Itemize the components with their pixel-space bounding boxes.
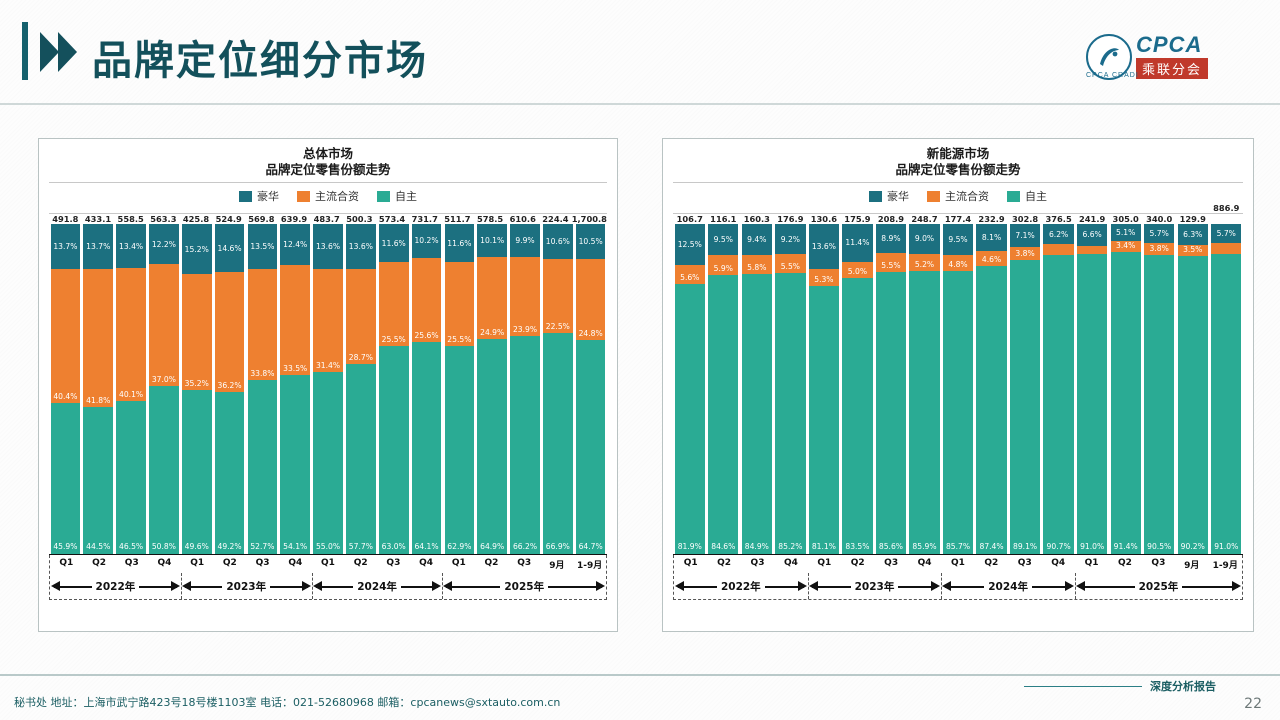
total-label: 511.7	[441, 214, 474, 224]
stacked-bar[interactable]: 15.2%35.2%49.6%	[182, 224, 212, 554]
bar-segment-lux: 13.5%	[248, 224, 278, 269]
bar-segment-label: 6.3%	[1183, 230, 1202, 239]
axis-year-group: 2022年	[674, 573, 808, 599]
axis-quarter-label: Q4	[410, 555, 443, 573]
footer-contact-text: 秘书处 地址：上海市武宁路423号18号楼1103室 电话：021-526809…	[14, 694, 560, 710]
stacked-bar[interactable]: 11.6%25.5%62.9%	[445, 224, 475, 554]
bar-segment-lux: 10.5%	[576, 224, 606, 259]
bar-segment-lux: 5.7%	[1144, 224, 1174, 243]
bar-segment-label: 25.5%	[447, 335, 471, 344]
header-accent-bar	[22, 22, 28, 80]
bar-segment-label: 22.5%	[546, 322, 570, 331]
bar-segment-label: 5.3%	[814, 275, 833, 284]
bar-segment-dom: 87.4%	[976, 266, 1006, 554]
bar-segment-label: 87.4%	[979, 542, 1003, 551]
bar-segment-lux: 9.5%	[708, 224, 738, 255]
bar-segment-lux: 13.7%	[51, 224, 81, 269]
axis-quarter-label: Q3	[1008, 555, 1041, 573]
bar-segment-lux: 9.0%	[909, 224, 939, 254]
bar-segment-dom: 57.7%	[346, 364, 376, 554]
legend-swatch-jv	[297, 191, 310, 202]
bar-segment-jv: 4.8%	[943, 255, 973, 271]
axis-quarter-label: Q2	[83, 555, 116, 573]
bar-segment-jv: 5.6%	[675, 265, 705, 283]
total-label: 224.4	[539, 214, 572, 224]
bar-segment-label: 40.1%	[119, 390, 143, 399]
total-label: 248.7	[908, 214, 942, 224]
bar-segment-label: 91.4%	[1114, 542, 1138, 551]
total-label: 129.9	[1176, 214, 1210, 224]
bar-segment-label: 3.8%	[1015, 249, 1034, 258]
bar-segment-jv: 33.5%	[280, 265, 310, 376]
bar-segment-jv: 5.2%	[909, 254, 939, 271]
bars-overall: 13.7%40.4%45.9%13.7%41.8%44.5%13.4%40.1%…	[49, 224, 607, 554]
bar-segment-label: 13.6%	[812, 242, 836, 251]
legend-label-dom: 自主	[395, 188, 417, 204]
bar-segment-label: 23.9%	[513, 325, 537, 334]
bar-segment-lux: 10.2%	[412, 224, 442, 258]
bar-segment-label: 4.6%	[982, 255, 1001, 264]
bar-segment-label: 10.6%	[546, 237, 570, 246]
total-label: 305.0	[1109, 214, 1143, 224]
bar-segment-jv: 25.5%	[379, 262, 409, 346]
chart-axis-overall: Q1Q2Q3Q4Q1Q2Q3Q4Q1Q2Q3Q4Q1Q2Q39月1-9月2022…	[49, 554, 607, 600]
legend-label-dom: 自主	[1025, 188, 1047, 204]
bars-nev: 12.5%5.6%81.9%9.5%5.9%84.6%9.4%5.8%84.9%…	[673, 224, 1243, 554]
stacked-bar[interactable]: 10.1%24.9%64.9%	[477, 224, 507, 554]
stacked-bar[interactable]: 6.2%3.1%90.7%	[1043, 224, 1073, 554]
bar-segment-dom: 64.9%	[477, 339, 507, 553]
axis-year-row: 2022年2023年2024年2025年	[674, 573, 1242, 599]
stacked-bar[interactable]: 5.1%3.4%91.4%	[1111, 224, 1141, 554]
bar-segment-label: 5.7%	[1217, 229, 1236, 238]
bar-segment-lux: 5.7%	[1211, 224, 1241, 243]
stacked-bar[interactable]: 8.1%4.6%87.4%	[976, 224, 1006, 554]
chart-panel-overall-market: 总体市场 品牌定位零售份额走势 豪华 主流合资 自主 491.8433.1558…	[38, 138, 618, 632]
bar-segment-jv: 24.8%	[576, 259, 606, 341]
total-label: 302.8	[1008, 214, 1042, 224]
chart-title-overall: 总体市场	[39, 139, 617, 161]
legend-label-lux: 豪华	[887, 188, 909, 204]
bar-segment-jv: 25.5%	[445, 262, 475, 346]
bar-segment-label: 11.6%	[382, 239, 406, 248]
stacked-bar[interactable]: 11.4%5.0%83.5%	[842, 224, 872, 554]
total-label: 569.8	[245, 214, 278, 224]
stacked-bar[interactable]: 10.6%22.5%66.9%	[543, 224, 573, 554]
chart-plot-nev: 106.7116.1160.3176.9130.6175.9208.9248.7…	[673, 214, 1243, 554]
bar-segment-jv: 35.2%	[182, 274, 212, 390]
total-label: 177.4	[941, 214, 975, 224]
stacked-bar[interactable]: 10.5%24.8%64.7%	[576, 224, 606, 554]
bar-segment-label: 13.7%	[53, 242, 77, 251]
bar-segment-label: 10.1%	[480, 236, 504, 245]
bar-segment-lux: 13.7%	[83, 224, 113, 269]
bar-segment-label: 41.8%	[86, 396, 110, 405]
bar-segment-dom: 90.2%	[1178, 256, 1208, 554]
bar-segment-jv: 3.5%	[1178, 245, 1208, 257]
bar-segment-jv: 36.2%	[215, 272, 245, 391]
totals-row-nev: 106.7116.1160.3176.9130.6175.9208.9248.7…	[673, 214, 1243, 224]
stacked-bar[interactable]: 9.9%23.9%66.2%	[510, 224, 540, 554]
axis-quarter-label: Q2	[841, 555, 874, 573]
legend-label-jv: 主流合资	[315, 188, 359, 204]
chart-legend-overall: 豪华 主流合资 自主	[39, 183, 617, 208]
bar-segment-label: 5.0%	[848, 267, 867, 276]
axis-quarter-label: Q3	[246, 555, 279, 573]
bar-segment-lux: 6.6%	[1077, 224, 1107, 246]
slide-header: 品牌定位细分市场 CPCA 乘联分会 CPCA CRADI	[0, 0, 1280, 104]
bar-segment-jv: 5.8%	[742, 255, 772, 274]
total-label: 176.9	[774, 214, 808, 224]
bar-segment-dom: 66.2%	[510, 336, 540, 554]
bar-segment-jv: 5.0%	[842, 262, 872, 279]
bar-segment-dom: 64.7%	[576, 340, 606, 554]
stacked-bar[interactable]: 9.5%5.9%84.6%	[708, 224, 738, 554]
bar-segment-lux: 9.9%	[510, 224, 540, 257]
header-divider	[0, 103, 1280, 105]
bar-segment-jv: 3.3%	[1211, 243, 1241, 254]
bar-segment-label: 52.7%	[250, 542, 274, 551]
bar-segment-label: 5.6%	[680, 273, 699, 282]
axis-quarter-row: Q1Q2Q3Q4Q1Q2Q3Q4Q1Q2Q3Q4Q1Q2Q39月1-9月	[674, 555, 1242, 573]
bar-segment-label: 9.4%	[747, 235, 766, 244]
bar-segment-label: 14.6%	[217, 244, 241, 253]
axis-quarter-row: Q1Q2Q3Q4Q1Q2Q3Q4Q1Q2Q3Q4Q1Q2Q39月1-9月	[50, 555, 606, 573]
total-label: 483.7	[310, 214, 343, 224]
bar-segment-label: 13.4%	[119, 242, 143, 251]
bar-segment-jv: 40.4%	[51, 269, 81, 402]
stacked-bar[interactable]: 8.9%5.5%85.6%	[876, 224, 906, 554]
bar-segment-lux: 13.6%	[346, 224, 376, 269]
bar-segment-lux: 14.6%	[215, 224, 245, 272]
bar-segment-label: 13.6%	[349, 242, 373, 251]
bar-segment-label: 84.9%	[745, 542, 769, 551]
bar-segment-label: 11.4%	[845, 238, 869, 247]
bar-segment-label: 4.8%	[948, 260, 967, 269]
bar-segment-dom: 52.7%	[248, 380, 278, 554]
stacked-bar[interactable]: 13.7%40.4%45.9%	[51, 224, 81, 554]
bar-segment-lux: 13.6%	[809, 224, 839, 269]
bar-segment-label: 3.8%	[1150, 244, 1169, 253]
bar-segment-jv: 33.8%	[248, 269, 278, 381]
bar-segment-lux: 11.4%	[842, 224, 872, 262]
bar-segment-jv: 23.9%	[510, 257, 540, 336]
axis-quarter-label: Q2	[707, 555, 740, 573]
legend-item-lux: 豪华	[869, 188, 909, 204]
axis-quarter-label: Q2	[975, 555, 1008, 573]
total-label: 886.9	[1210, 203, 1244, 213]
bar-segment-dom: 54.1%	[280, 375, 310, 554]
total-label: 116.1	[707, 214, 741, 224]
axis-holder: Q1Q2Q3Q4Q1Q2Q3Q4Q1Q2Q3Q4Q1Q2Q39月1-9月2022…	[49, 555, 607, 600]
stacked-bar[interactable]: 6.6%2.4%91.0%	[1077, 224, 1107, 554]
axis-quarter-label: Q2	[344, 555, 377, 573]
bar-segment-label: 25.5%	[382, 335, 406, 344]
bar-segment-label: 7.1%	[1015, 231, 1034, 240]
total-label: 106.7	[673, 214, 707, 224]
total-label: 425.8	[180, 214, 213, 224]
stacked-bar[interactable]: 13.5%33.8%52.7%	[248, 224, 278, 554]
bar-segment-dom: 62.9%	[445, 346, 475, 554]
stacked-bar[interactable]: 12.2%37.0%50.8%	[149, 224, 179, 554]
bar-segment-dom: 85.7%	[943, 271, 973, 554]
bar-segment-label: 85.9%	[912, 542, 936, 551]
legend-swatch-dom	[1007, 191, 1020, 202]
axis-year-label: 2025年	[1135, 579, 1183, 594]
bar-segment-jv: 31.4%	[313, 269, 343, 373]
stacked-bar[interactable]: 9.5%4.8%85.7%	[943, 224, 973, 554]
bar-segment-jv: 5.5%	[876, 253, 906, 271]
axis-quarter-label: 1-9月	[1209, 555, 1242, 573]
stacked-bar[interactable]: 11.6%25.5%63.0%	[379, 224, 409, 554]
bar-segment-label: 57.7%	[349, 542, 373, 551]
bar-segment-label: 5.8%	[747, 263, 766, 272]
bar-segment-label: 12.4%	[283, 240, 307, 249]
bar-segment-label: 40.4%	[53, 392, 77, 401]
bar-segment-lux: 12.2%	[149, 224, 179, 264]
bar-segment-label: 89.1%	[1013, 542, 1037, 551]
total-label: 563.3	[147, 214, 180, 224]
axis-quarter-label: Q1	[1075, 555, 1108, 573]
bar-segment-jv: 28.7%	[346, 269, 376, 364]
axis-year-group: 2024年	[312, 573, 443, 599]
bar-segment-label: 64.9%	[480, 542, 504, 551]
bar-segment-dom: 46.5%	[116, 401, 146, 554]
axis-quarter-label: Q4	[908, 555, 941, 573]
legend-swatch-dom	[377, 191, 390, 202]
bar-segment-jv: 40.1%	[116, 268, 146, 400]
bar-segment-label: 13.6%	[316, 242, 340, 251]
axis-quarter-label: Q3	[741, 555, 774, 573]
bar-segment-label: 85.6%	[879, 542, 903, 551]
bar-segment-dom: 85.2%	[775, 273, 805, 554]
bar-segment-label: 81.9%	[678, 542, 702, 551]
axis-quarter-label: Q4	[279, 555, 312, 573]
total-label: 433.1	[82, 214, 115, 224]
total-label: 340.0	[1142, 214, 1176, 224]
axis-year-group: 2023年	[808, 573, 942, 599]
bar-segment-lux: 10.6%	[543, 224, 573, 259]
chart-legend-nev: 豪华 主流合资 自主	[663, 183, 1253, 208]
logo-subtitle: 乘联分会	[1136, 58, 1208, 79]
chevron-right-icon	[40, 32, 100, 72]
bar-segment-lux: 15.2%	[182, 224, 212, 274]
bar-segment-jv: 3.4%	[1111, 241, 1141, 252]
total-label: 558.5	[114, 214, 147, 224]
page-number: 22	[1244, 696, 1262, 712]
stacked-bar[interactable]: 6.3%3.5%90.2%	[1178, 224, 1208, 554]
bar-segment-label: 84.6%	[711, 542, 735, 551]
bar-segment-label: 31.4%	[316, 361, 340, 370]
cpca-logo: CPCA 乘联分会 CPCA CRADI	[1086, 32, 1256, 80]
bar-segment-lux: 9.4%	[742, 224, 772, 255]
axis-quarter-label: Q4	[1041, 555, 1074, 573]
axis-year-row: 2022年2023年2024年2025年	[50, 573, 606, 599]
bar-segment-label: 15.2%	[185, 245, 209, 254]
total-label: 160.3	[740, 214, 774, 224]
bar-segment-dom: 66.9%	[543, 333, 573, 554]
axis-quarter-label: Q1	[50, 555, 83, 573]
bar-segment-label: 35.2%	[185, 379, 209, 388]
stacked-bar[interactable]: 5.7%3.3%91.0%	[1211, 224, 1241, 554]
legend-swatch-lux	[239, 191, 252, 202]
bar-segment-jv: 37.0%	[149, 264, 179, 386]
stacked-bar[interactable]: 7.1%3.8%89.1%	[1010, 224, 1040, 554]
axis-year-group: 2023年	[181, 573, 312, 599]
axis-quarter-label: Q3	[508, 555, 541, 573]
stacked-bar[interactable]: 13.4%40.1%46.5%	[116, 224, 146, 554]
bar-segment-label: 9.2%	[781, 235, 800, 244]
bar-segment-label: 5.5%	[781, 262, 800, 271]
bar-segment-label: 9.9%	[515, 236, 534, 245]
bar-segment-lux: 9.2%	[775, 224, 805, 254]
bar-segment-label: 24.9%	[480, 328, 504, 337]
bar-segment-lux: 12.4%	[280, 224, 310, 265]
bar-segment-jv: 24.9%	[477, 257, 507, 339]
bar-segment-label: 64.1%	[414, 542, 438, 551]
bar-segment-dom: 49.6%	[182, 390, 212, 554]
axis-quarter-label: 1-9月	[573, 555, 606, 573]
bar-segment-label: 62.9%	[447, 542, 471, 551]
bar-segment-lux: 7.1%	[1010, 224, 1040, 247]
bar-segment-label: 91.0%	[1214, 542, 1238, 551]
legend-label-lux: 豪华	[257, 188, 279, 204]
axis-quarter-label: Q3	[377, 555, 410, 573]
total-label: 376.5	[1042, 214, 1076, 224]
bar-segment-jv: 5.9%	[708, 255, 738, 274]
axis-year-label: 2024年	[353, 579, 401, 594]
bar-segment-dom: 90.5%	[1144, 255, 1174, 554]
totals-row-overall: 491.8433.1558.5563.3425.8524.9569.8639.9…	[49, 214, 607, 224]
bar-segment-label: 66.9%	[546, 542, 570, 551]
bar-segment-label: 9.5%	[948, 235, 967, 244]
total-label: 175.9	[841, 214, 875, 224]
stacked-bar[interactable]: 13.6%28.7%57.7%	[346, 224, 376, 554]
axis-quarter-label: Q4	[774, 555, 807, 573]
bar-segment-label: 8.9%	[881, 234, 900, 243]
slide-footer: 秘书处 地址：上海市武宁路423号18号楼1103室 电话：021-526809…	[0, 676, 1280, 720]
stacked-bar[interactable]: 12.5%5.6%81.9%	[675, 224, 705, 554]
axis-quarter-label: Q3	[874, 555, 907, 573]
bar-segment-dom: 84.9%	[742, 274, 772, 554]
bar-segment-label: 90.5%	[1147, 542, 1171, 551]
bar-segment-label: 12.5%	[678, 240, 702, 249]
bar-segment-label: 49.2%	[217, 542, 241, 551]
bar-segment-label: 55.0%	[316, 542, 340, 551]
logo-wordmark: CPCA	[1136, 32, 1202, 58]
bar-segment-lux: 11.6%	[445, 224, 475, 262]
total-label: 500.3	[343, 214, 376, 224]
stacked-bar[interactable]: 13.6%31.4%55.0%	[313, 224, 343, 554]
bar-segment-dom: 45.9%	[51, 403, 81, 554]
legend-swatch-jv	[927, 191, 940, 202]
footer-badge-label: 深度分析报告	[1150, 680, 1216, 693]
axis-quarter-label: Q2	[1108, 555, 1141, 573]
legend-item-jv: 主流合资	[297, 188, 359, 204]
bar-segment-label: 5.2%	[915, 260, 934, 269]
bar-segment-dom: 64.1%	[412, 342, 442, 554]
stacked-bar[interactable]: 10.2%25.6%64.1%	[412, 224, 442, 554]
total-label: 610.6	[506, 214, 539, 224]
bar-segment-lux: 12.5%	[675, 224, 705, 265]
bar-segment-label: 8.1%	[982, 233, 1001, 242]
axis-quarter-label: Q3	[1142, 555, 1175, 573]
stacked-bar[interactable]: 5.7%3.8%90.5%	[1144, 224, 1174, 554]
total-label: 731.7	[408, 214, 441, 224]
axis-year-label: 2024年	[984, 579, 1032, 594]
stacked-bar[interactable]: 12.4%33.5%54.1%	[280, 224, 310, 554]
axis-quarter-label: Q1	[941, 555, 974, 573]
legend-label-jv: 主流合资	[945, 188, 989, 204]
bar-segment-label: 63.0%	[382, 542, 406, 551]
bar-segment-dom: 81.9%	[675, 284, 705, 554]
bar-segment-lux: 8.9%	[876, 224, 906, 253]
total-label: 578.5	[474, 214, 507, 224]
bar-segment-label: 90.7%	[1047, 542, 1071, 551]
bar-segment-label: 10.5%	[579, 237, 603, 246]
stacked-bar[interactable]: 13.6%5.3%81.1%	[809, 224, 839, 554]
bar-segment-label: 6.2%	[1049, 230, 1068, 239]
axis-quarter-label: Q2	[214, 555, 247, 573]
bar-segment-label: 66.2%	[513, 542, 537, 551]
legend-item-dom: 自主	[377, 188, 417, 204]
total-label: 241.9	[1075, 214, 1109, 224]
bar-segment-label: 81.1%	[812, 542, 836, 551]
bar-segment-label: 46.5%	[119, 542, 143, 551]
bar-segment-jv: 25.6%	[412, 258, 442, 342]
bar-segment-dom: 91.4%	[1111, 252, 1141, 554]
axis-year-label: 2023年	[222, 579, 270, 594]
bar-segment-label: 13.5%	[250, 242, 274, 251]
axis-year-label: 2022年	[717, 579, 765, 594]
bar-segment-dom: 81.1%	[809, 286, 839, 554]
bar-segment-dom: 84.6%	[708, 275, 738, 554]
stacked-bar[interactable]: 9.0%5.2%85.9%	[909, 224, 939, 554]
axis-year-group: 2022年	[50, 573, 181, 599]
bar-segment-dom: 91.0%	[1211, 254, 1241, 554]
bar-segment-label: 44.5%	[86, 542, 110, 551]
bar-segment-jv: 4.6%	[976, 251, 1006, 266]
bar-segment-label: 64.7%	[579, 542, 603, 551]
bar-segment-label: 5.7%	[1150, 229, 1169, 238]
bar-segment-label: 12.2%	[152, 240, 176, 249]
bar-segment-dom: 50.8%	[149, 386, 179, 554]
stacked-bar[interactable]: 9.2%5.5%85.2%	[775, 224, 805, 554]
bar-segment-dom: 44.5%	[83, 407, 113, 554]
chart-title-nev: 新能源市场	[663, 139, 1253, 161]
bar-segment-label: 85.2%	[778, 542, 802, 551]
page-title: 品牌定位细分市场	[92, 28, 428, 86]
chart-axis-nev: Q1Q2Q3Q4Q1Q2Q3Q4Q1Q2Q3Q4Q1Q2Q39月1-9月2022…	[673, 554, 1243, 600]
total-label: 130.6	[807, 214, 841, 224]
legend-swatch-lux	[869, 191, 882, 202]
axis-quarter-label: Q1	[442, 555, 475, 573]
bar-segment-lux: 9.5%	[943, 224, 973, 255]
axis-quarter-label: Q1	[674, 555, 707, 573]
bar-segment-label: 25.6%	[414, 331, 438, 340]
bar-segment-label: 50.8%	[152, 542, 176, 551]
bar-segment-lux: 10.1%	[477, 224, 507, 257]
bar-segment-dom: 89.1%	[1010, 260, 1040, 554]
axis-quarter-label: Q1	[181, 555, 214, 573]
axis-quarter-label: Q1	[312, 555, 345, 573]
stacked-bar[interactable]: 13.7%41.8%44.5%	[83, 224, 113, 554]
stacked-bar[interactable]: 9.4%5.8%84.9%	[742, 224, 772, 554]
bar-segment-lux: 11.6%	[379, 224, 409, 262]
bar-segment-label: 28.7%	[349, 353, 373, 362]
total-label: 232.9	[975, 214, 1009, 224]
stacked-bar[interactable]: 14.6%36.2%49.2%	[215, 224, 245, 554]
